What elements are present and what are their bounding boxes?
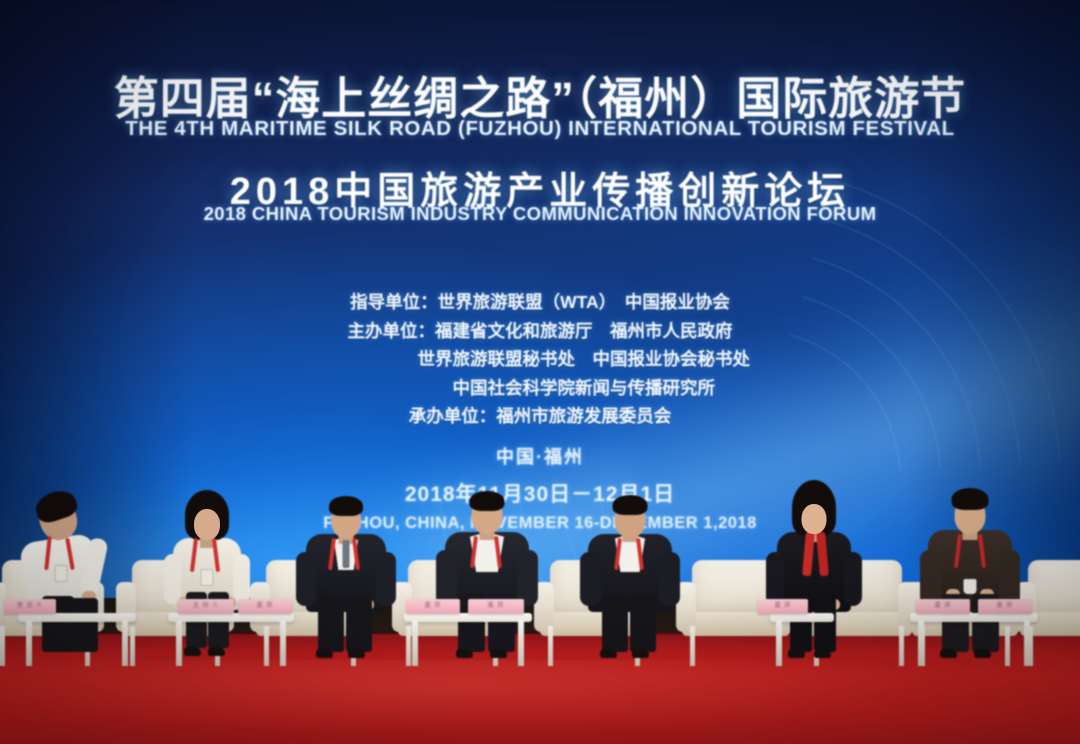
side-table: 嘉 宾 嘉 宾 [910,566,1038,666]
name-card: 发 言 人 [4,599,56,614]
table-microphone [460,599,467,606]
name-card: 嘉 宾 [468,599,524,614]
side-table: 嘉 宾 [770,566,834,666]
panel-seating-row: 发 言 人 主 持 人 嘉 宾 嘉 宾 嘉 宾 [0,0,1080,744]
side-table: 嘉 宾 嘉 宾 [404,566,532,666]
conference-stage-photo: 第四届“海上丝绸之路”（福州）国际旅游节 THE 4TH MARITIME SI… [0,0,1080,744]
name-card: 嘉 宾 [916,599,970,614]
panelist-3 [288,462,404,652]
name-card: 主 持 人 [178,599,234,614]
name-card: 嘉 宾 [406,599,460,614]
name-card: 嘉 宾 [238,599,292,614]
name-card: 嘉 宾 [758,599,808,614]
name-card: 嘉 宾 [978,599,1032,614]
side-table: 发 言 人 [18,566,136,666]
side-table: 主 持 人 嘉 宾 [168,566,294,666]
panelist-5 [572,462,688,652]
